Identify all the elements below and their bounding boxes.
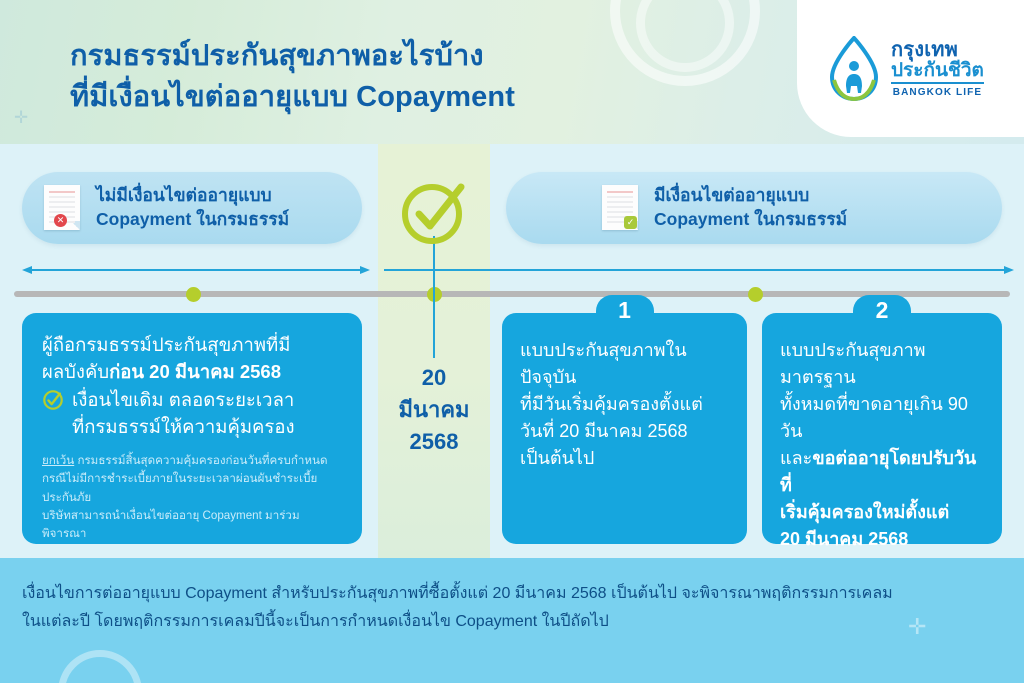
- card-existing-head-bold: ก่อน 20 มีนาคม 2568: [109, 361, 281, 382]
- pill-has-copayment-line1: มีเงื่อนไขต่ออายุแบบ: [654, 184, 847, 208]
- pill-no-copayment-line1: ไม่มีเงื่อนไขต่ออายุแบบ: [96, 184, 289, 208]
- footnote-exception-label: ยกเว้น: [42, 454, 74, 467]
- bangkok-life-droplet-icon: [826, 36, 882, 102]
- header-banner: ✛ กรมธรรม์ประกันสุขภาพอะไรบ้าง ที่มีเงื่…: [0, 0, 1024, 144]
- card-existing-check-row: เงื่อนไขเดิม ตลอดระยะเวลา ที่กรมธรรม์ให้…: [42, 386, 342, 440]
- card-copayment-1: 1 แบบประกันสุขภาพในปัจจุบัน ที่มีวันเริ่…: [502, 313, 747, 544]
- pill-has-copayment-line2: Copayment ในกรมธรรม์: [654, 208, 847, 232]
- pill-has-copayment-label: มีเงื่อนไขต่ออายุแบบ Copayment ในกรมธรรม…: [654, 184, 847, 231]
- pill-no-copayment: ✕ ไม่มีเงื่อนไขต่ออายุแบบ Copayment ในกร…: [22, 172, 362, 244]
- red-x-badge-icon: ✕: [54, 214, 67, 227]
- timeline-arrow-left: [22, 265, 370, 275]
- card-existing-policy-heading: ผู้ถือกรมธรรม์ประกันสุขภาพที่มี ผลบังคับ…: [42, 331, 342, 385]
- card-copayment-2-body: แบบประกันสุขภาพมาตรฐาน ทั้งหมดที่ขาดอายุ…: [780, 337, 984, 553]
- card-copayment-2: 2 แบบประกันสุขภาพมาตรฐาน ทั้งหมดที่ขาดอา…: [762, 313, 1002, 544]
- card-2-line3: และขอต่ออายุโดยปรับวันที่: [780, 445, 984, 499]
- timeline-dot-left: [186, 287, 201, 302]
- footer-note-band: เงื่อนไขการต่ออายุแบบ Copayment สำหรับปร…: [0, 558, 1024, 683]
- document-with-green-check-icon: ✓: [602, 185, 640, 231]
- card-1-line2: ที่มีวันเริ่มคุ้มครองตั้งแต่: [520, 391, 729, 418]
- card-existing-check-line2: ที่กรมธรรม์ให้ความคุ้มครอง: [72, 413, 295, 440]
- document-with-red-x-icon: ✕: [44, 185, 82, 231]
- card-number-badge-1: 1: [596, 295, 654, 329]
- footer-note-text: เงื่อนไขการต่ออายุแบบ Copayment สำหรับปร…: [22, 580, 987, 635]
- card-2-line2: ทั้งหมดที่ขาดอายุเกิน 90 วัน: [780, 391, 984, 445]
- card-2-line3-normal: และ: [780, 448, 812, 468]
- page-title-line2: ที่มีเงื่อนไขต่ออายุแบบ Copayment: [70, 77, 690, 118]
- card-existing-check-text: เงื่อนไขเดิม ตลอดระยะเวลา ที่กรมธรรม์ให้…: [72, 386, 295, 440]
- green-check-badge-icon: ✓: [624, 216, 637, 229]
- date-day: 20: [378, 362, 490, 394]
- card-existing-footnote: ยกเว้น กรมธรรม์สิ้นสุดความคุ้มครองก่อนวั…: [42, 452, 342, 544]
- brand-name-th-1: กรุงเทพ: [891, 40, 984, 60]
- card-2-line5: 20 มีนาคม 2568: [780, 526, 984, 553]
- decorative-plus-icon: ✛: [14, 112, 25, 123]
- timeline-dot-right: [748, 287, 763, 302]
- timeline-vertical-connector: [433, 236, 435, 358]
- date-month: มีนาคม: [378, 394, 490, 426]
- card-1-line4: เป็นต้นไป: [520, 445, 729, 472]
- date-year: 2568: [378, 426, 490, 458]
- page-title-line1: กรมธรรม์ประกันสุขภาพอะไรบ้าง: [70, 40, 484, 72]
- green-check-circle-small-icon: [42, 389, 64, 411]
- card-existing-head-1: ผู้ถือกรมธรรม์ประกันสุขภาพที่มี: [42, 334, 290, 355]
- pill-no-copayment-label: ไม่มีเงื่อนไขต่ออายุแบบ Copayment ในกรมธ…: [96, 184, 289, 231]
- card-2-line1: แบบประกันสุขภาพมาตรฐาน: [780, 337, 984, 391]
- footer-note-line1: เงื่อนไขการต่ออายุแบบ Copayment สำหรับปร…: [22, 580, 987, 608]
- page-title: กรมธรรม์ประกันสุขภาพอะไรบ้าง ที่มีเงื่อน…: [70, 36, 690, 118]
- card-2-line4-bold: เริ่มคุ้มครองใหม่ตั้งแต่: [780, 502, 949, 522]
- card-existing-head-2: ผลบังคับ: [42, 361, 109, 382]
- footnote-line2: กรณีไม่มีการชำระเบี้ยภายในระยะเวลาผ่อนผั…: [42, 472, 317, 503]
- brand-name-th-2: ประกันชีวิต: [891, 61, 984, 84]
- card-copayment-1-body: แบบประกันสุขภาพในปัจจุบัน ที่มีวันเริ่มค…: [520, 337, 729, 472]
- card-2-line4: เริ่มคุ้มครองใหม่ตั้งแต่: [780, 499, 984, 526]
- card-existing-check-line1: เงื่อนไขเดิม ตลอดระยะเวลา: [72, 386, 295, 413]
- decorative-ring-footer-icon: [58, 650, 142, 683]
- card-1-line1: แบบประกันสุขภาพในปัจจุบัน: [520, 337, 729, 391]
- timeline-date-label: 20 มีนาคม 2568: [378, 362, 490, 458]
- pill-has-copayment: ✓ มีเงื่อนไขต่ออายุแบบ Copayment ในกรมธร…: [506, 172, 1002, 244]
- card-existing-policy: ผู้ถือกรมธรรม์ประกันสุขภาพที่มี ผลบังคับ…: [22, 313, 362, 544]
- card-number-badge-2: 2: [853, 295, 911, 329]
- footnote-line3: บริษัทสามารถนำเงื่อนไขต่ออายุ Copayment …: [42, 509, 300, 540]
- brand-logo: กรุงเทพ ประกันชีวิต BANGKOK LIFE: [826, 28, 1006, 110]
- footnote-line1: กรมธรรม์สิ้นสุดความคุ้มครองก่อนวันที่ครบ…: [74, 454, 327, 467]
- brand-logo-text: กรุงเทพ ประกันชีวิต BANGKOK LIFE: [891, 40, 984, 98]
- green-check-circle-icon: [399, 177, 469, 247]
- infographic-root: ✛ กรมธรรม์ประกันสุขภาพอะไรบ้าง ที่มีเงื่…: [0, 0, 1024, 683]
- footer-note-line2: ในแต่ละปี โดยพฤติกรรมการเคลมปีนี้จะเป็นก…: [22, 608, 987, 636]
- card-1-line3: วันที่ 20 มีนาคม 2568: [520, 418, 729, 445]
- timeline-arrow-right: [384, 265, 1014, 275]
- brand-name-en: BANGKOK LIFE: [891, 88, 984, 98]
- card-2-line5-bold: 20 มีนาคม 2568: [780, 529, 908, 549]
- decorative-plus-footer-icon: ✛: [908, 616, 926, 638]
- pill-no-copayment-line2: Copayment ในกรมธรรม์: [96, 208, 289, 232]
